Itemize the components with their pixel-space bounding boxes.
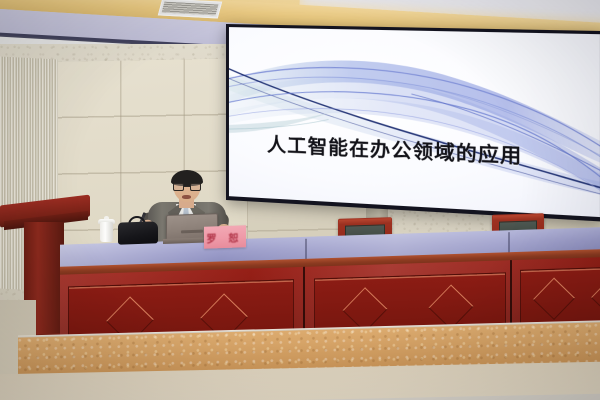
name-card: 罗 恕 [204,225,246,248]
air-vent-icon [158,0,222,18]
glasses-lens-left [173,183,184,191]
desk-panel-3 [520,266,600,326]
led-display-bezel: 人工智能在办公领域的应用 [226,24,600,222]
laptop-logo [181,229,203,233]
briefcase [118,221,158,244]
conference-room-photo: 人工智能在办公领域的应用 [0,0,600,400]
desk-panel-divider-2 [510,260,512,332]
presenter-mouth [182,195,191,199]
desk-panel-diamond [591,276,600,318]
name-card-char-2: 恕 [229,229,244,245]
desk-panel-diamond [533,278,575,320]
vent-grill [162,2,219,16]
glasses-icon [172,183,202,191]
glasses-lens-right [190,183,201,191]
slide-wave-graphic [229,27,600,215]
presentation-screen[interactable]: 人工智能在办公领域的应用 [229,27,600,217]
name-card-char-1: 罗 [207,230,222,246]
teacup [100,222,113,242]
